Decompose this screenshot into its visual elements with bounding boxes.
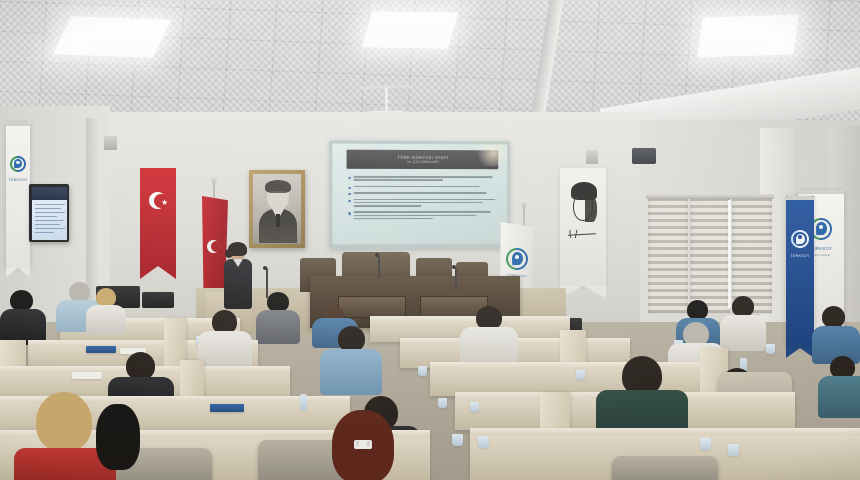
slide-bullet-list xyxy=(349,176,497,224)
projector-pole xyxy=(385,88,388,112)
paper-sheet xyxy=(72,372,102,379)
water-cup xyxy=(452,434,463,446)
panel-light-left xyxy=(53,16,172,57)
attendee-head xyxy=(36,392,92,452)
folder xyxy=(210,404,244,412)
bullet-text xyxy=(353,176,496,182)
window-blind-panel xyxy=(648,198,688,314)
attendee-head xyxy=(822,306,845,328)
projection-screen: TÜRK DÜNYASI VAKFI ve ÇALIŞMALARI xyxy=(329,141,510,250)
turkish-flag-banner: ★ xyxy=(140,168,176,266)
water-cup xyxy=(478,436,489,448)
water-bottle xyxy=(300,394,307,410)
slide-bullet xyxy=(349,176,497,182)
rollup-banner-blue: TÜRKSOY xyxy=(786,196,814,348)
microphone-icon xyxy=(375,253,379,257)
attendee xyxy=(460,306,518,368)
air-conditioner-icon xyxy=(632,148,656,164)
bullet-text xyxy=(353,199,496,208)
attendee-torso xyxy=(86,305,126,335)
institution-logo-icon xyxy=(506,248,528,270)
attendee xyxy=(320,326,382,392)
ataturk-portrait-frame xyxy=(249,170,305,248)
av-equipment xyxy=(142,292,174,308)
monitor-header-band xyxy=(32,187,67,200)
attendee-head xyxy=(96,404,140,470)
panel-light-center xyxy=(362,11,458,49)
flagpole xyxy=(523,206,525,226)
water-cup xyxy=(766,344,775,354)
bullet-dot-icon xyxy=(349,200,351,202)
chair[interactable] xyxy=(612,456,718,480)
water-cup xyxy=(438,398,447,408)
star-icon: ★ xyxy=(161,199,168,207)
slide-bullet xyxy=(349,186,497,189)
banner-rail xyxy=(6,122,30,126)
water-cup xyxy=(470,402,479,412)
presenter xyxy=(222,244,254,320)
slide-bullet xyxy=(349,192,497,195)
attendee xyxy=(720,296,766,350)
attendee xyxy=(818,356,860,416)
window-light-gap xyxy=(728,200,731,308)
bullet-text xyxy=(353,186,496,189)
photograph-seminar-hall: TÜRK DÜNYASI VAKFI ve ÇALIŞMALARI xyxy=(0,0,860,480)
attendee xyxy=(198,310,252,370)
slide-bullet xyxy=(349,199,497,208)
water-cup xyxy=(576,370,585,380)
panel-light-right xyxy=(697,14,799,57)
attendee-head xyxy=(732,296,754,317)
bullet-dot-icon xyxy=(349,193,351,195)
ataturk-signature xyxy=(568,230,598,238)
microphone-icon xyxy=(452,265,456,269)
bullet-text xyxy=(353,192,496,195)
attendee-head xyxy=(126,352,155,380)
desk-surface xyxy=(470,428,860,435)
attendee xyxy=(86,288,126,332)
banner-text: TÜRKSOY xyxy=(786,254,814,258)
microphone-stand xyxy=(455,268,457,290)
bullet-dot-icon xyxy=(349,187,351,189)
attendee-head xyxy=(267,292,289,312)
microphone-stand xyxy=(378,256,380,278)
banner-rail xyxy=(786,196,814,200)
institution-logo-icon xyxy=(791,230,809,248)
microphone-icon xyxy=(263,266,267,270)
wall-monitor xyxy=(29,184,69,242)
institution-logo-icon xyxy=(10,156,26,172)
crescent-icon xyxy=(207,240,220,253)
banner-text: TÜRKSOY xyxy=(6,178,30,182)
presentation-slide: TÜRK DÜNYASI VAKFI ve ÇALIŞMALARI xyxy=(332,144,507,245)
attendee xyxy=(0,290,46,342)
bullet-text xyxy=(353,211,496,221)
monitor-screen xyxy=(32,187,67,240)
attendee-torso xyxy=(720,315,766,351)
screen-glare xyxy=(474,144,507,167)
water-cup xyxy=(728,444,739,456)
ataturk-silhouette-banner xyxy=(560,168,606,286)
attendee-torso xyxy=(256,310,300,344)
banner-rail xyxy=(798,190,844,194)
attendee xyxy=(256,292,300,342)
hair-clip xyxy=(354,440,372,449)
bullet-dot-icon xyxy=(349,177,351,179)
portrait-image xyxy=(253,174,301,244)
rollup-banner-left: TÜRKSOY xyxy=(6,122,30,268)
wall-speaker-icon xyxy=(104,136,117,150)
slide-bullet xyxy=(349,211,497,221)
water-cup xyxy=(700,438,711,450)
attendee-torso xyxy=(818,376,860,418)
presenter-hair-bun xyxy=(225,249,233,258)
attendee-head xyxy=(687,300,708,320)
attendee-torso xyxy=(320,349,382,395)
wall-speaker-icon xyxy=(586,150,598,164)
attendee xyxy=(88,404,140,480)
water-cup xyxy=(418,366,427,376)
attendee-head xyxy=(10,290,33,311)
attendee xyxy=(318,410,404,480)
slide-subtitle: ve ÇALIŞMALARI xyxy=(407,160,439,164)
bullet-dot-icon xyxy=(349,213,351,215)
ataturk-line-portrait xyxy=(569,182,597,222)
attendee xyxy=(812,306,860,362)
